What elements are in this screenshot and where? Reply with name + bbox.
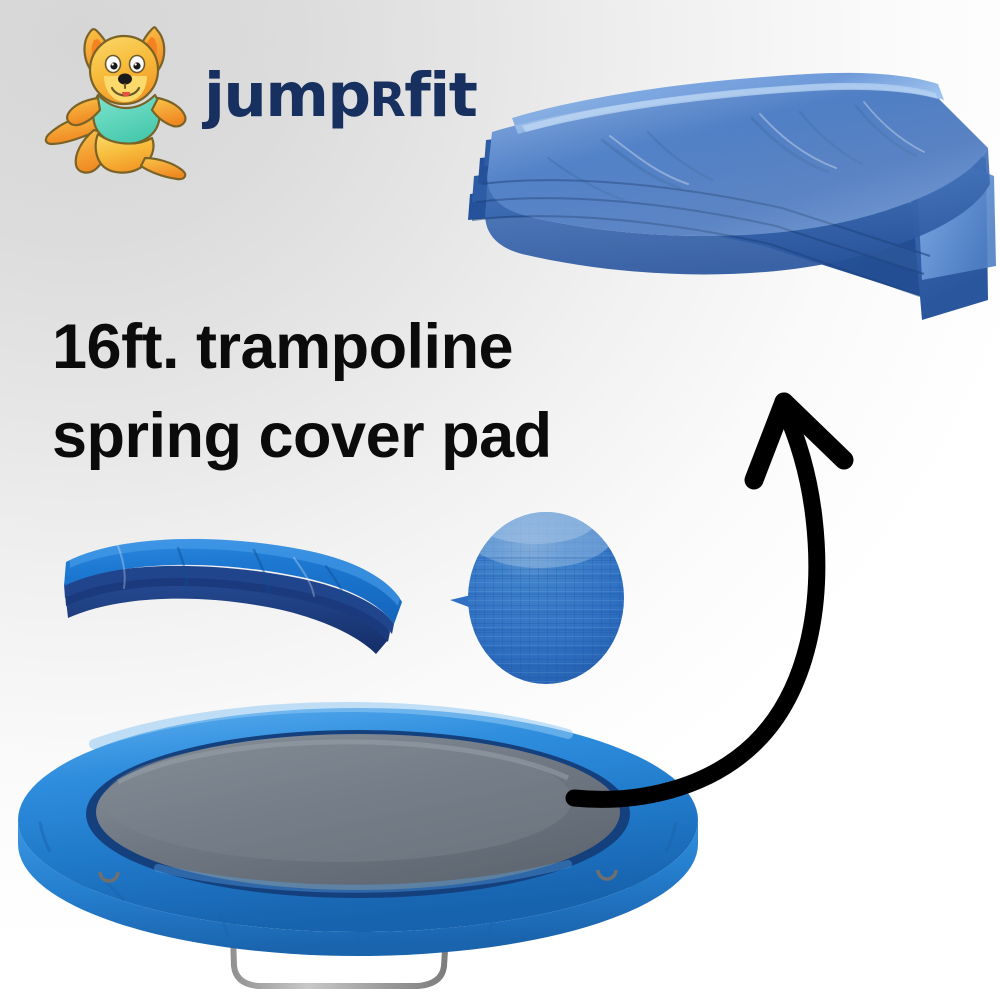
- brand-lockup: jumpRfit: [42, 18, 462, 178]
- brand-wordmark: jumpRfit: [204, 65, 476, 126]
- headline-line-2: spring cover pad: [52, 392, 672, 481]
- trampoline-image: [8, 672, 714, 1000]
- promo-image-canvas: jumpRfit 16ft. trampoline spring cover p…: [0, 0, 1000, 1000]
- kangaroo-icon: [42, 18, 192, 178]
- wordmark-part-jump: jump: [204, 60, 370, 131]
- pvc-fabric-weave-closeup: [448, 506, 634, 690]
- wordmark-part-r: R: [370, 73, 405, 128]
- folded-pad-small-image: [58, 522, 418, 682]
- folded-pad-stack-image: [452, 8, 1000, 388]
